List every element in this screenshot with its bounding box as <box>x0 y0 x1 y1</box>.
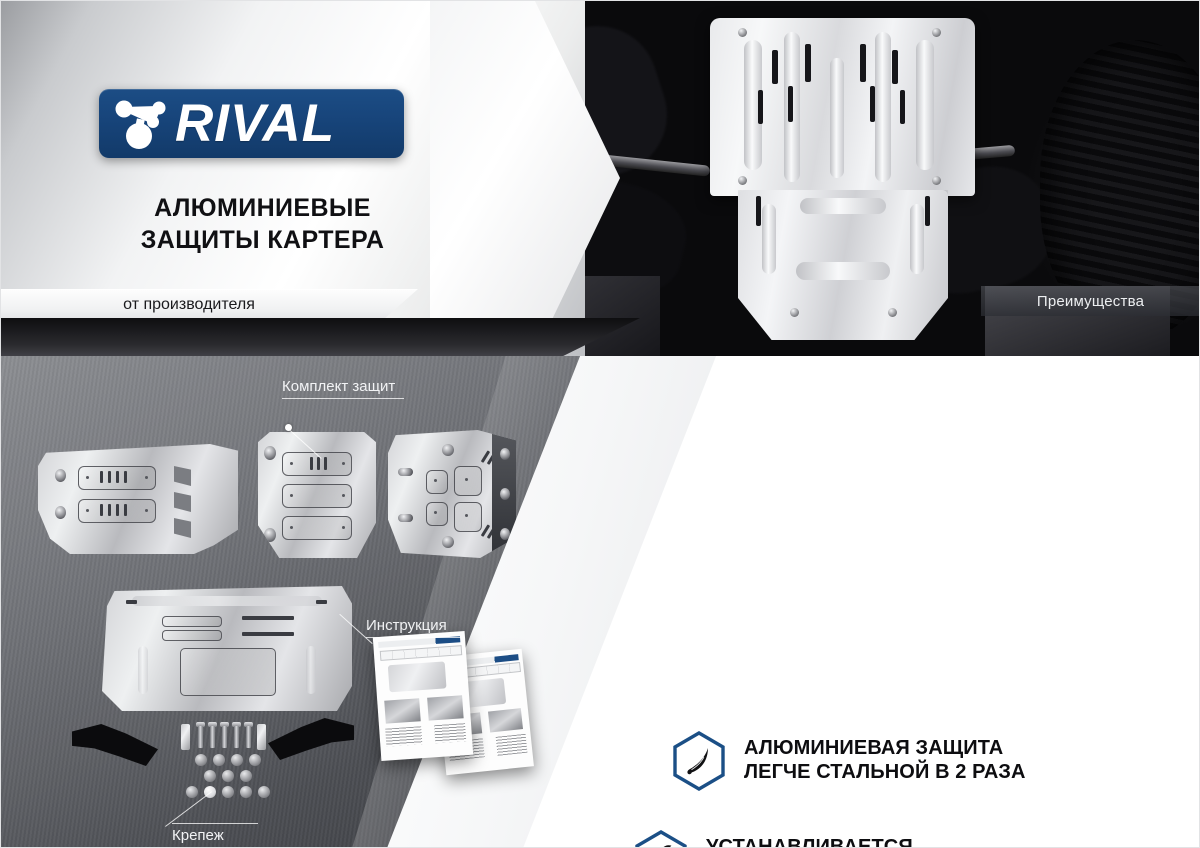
mounting-bracket <box>268 718 354 760</box>
skid-plate-part <box>38 444 238 554</box>
mounting-bracket <box>72 724 158 766</box>
rival-logo: RIVAL <box>99 89 404 158</box>
advantages-tab-label: Преимущества <box>1037 293 1144 310</box>
callout-instruction-label: Инструкция <box>366 617 447 634</box>
benefit-line2: ЛЕГЧЕ СТАЛЬНОЙ В 2 РАЗА <box>744 761 1026 785</box>
benefit-text: АЛЮМИНИЕВАЯ ЗАЩИТА ЛЕГЧЕ СТАЛЬНОЙ В 2 РА… <box>744 737 1026 784</box>
benefit-item-fitment: УСТАНАВЛИВАЕТСЯ В ШТАТНЫЕ МЕСТА <box>633 829 913 848</box>
skid-plate-part <box>388 430 516 558</box>
banner-section: RIVAL АЛЮМИНИЕВЫЕ ЗАЩИТЫ КАРТЕРА от прои… <box>0 0 1200 356</box>
callout-instruction: Инструкция <box>366 617 460 638</box>
feather-icon <box>671 730 727 792</box>
skid-plate-part <box>258 432 376 558</box>
wrench-icon <box>633 829 689 848</box>
banner-title: АЛЮМИНИЕВЫЕ ЗАЩИТЫ КАРТЕРА <box>0 192 525 256</box>
advantages-tab[interactable]: Преимущества <box>981 286 1200 316</box>
banner-title-line2: ЗАЩИТЫ КАРТЕРА <box>141 226 385 254</box>
skid-plate-upper <box>710 18 975 196</box>
callout-hardware-label: Крепеж <box>172 827 224 844</box>
content-section: Комплект защит Крепеж <box>0 356 1200 848</box>
benefit-line1: УСТАНАВЛИВАЕТСЯ <box>706 836 913 848</box>
banner-title-line1: АЛЮМИНИЕВЫЕ <box>154 194 371 222</box>
infographic-page: RIVAL АЛЮМИНИЕВЫЕ ЗАЩИТЫ КАРТЕРА от прои… <box>0 0 1200 848</box>
banner-dark-notch <box>0 318 640 356</box>
skid-plate-lower <box>738 190 948 340</box>
callout-kit-label: Комплект защит <box>282 378 395 395</box>
logo-wordmark: RIVAL <box>175 97 335 150</box>
benefit-item-weight: АЛЮМИНИЕВАЯ ЗАЩИТА ЛЕГЧЕ СТАЛЬНОЙ В 2 РА… <box>671 730 1026 792</box>
molecule-icon <box>109 95 177 153</box>
benefits-list: АЛЮМИНИЕВАЯ ЗАЩИТА ЛЕГЧЕ СТАЛЬНОЙ В 2 РА… <box>575 712 1200 848</box>
callout-hardware: Крепеж <box>172 823 258 844</box>
instruction-sheet <box>373 631 473 761</box>
callout-dot-kit <box>285 424 292 431</box>
benefit-text: УСТАНАВЛИВАЕТСЯ В ШТАТНЫЕ МЕСТА <box>706 836 913 848</box>
callout-kit: Комплект защит <box>282 378 404 399</box>
banner-subtitle: от производителя <box>0 296 378 314</box>
skid-plate-main <box>102 586 352 711</box>
benefit-line1: АЛЮМИНИЕВАЯ ЗАЩИТА <box>744 737 1003 759</box>
installed-skid-plate <box>710 18 975 338</box>
